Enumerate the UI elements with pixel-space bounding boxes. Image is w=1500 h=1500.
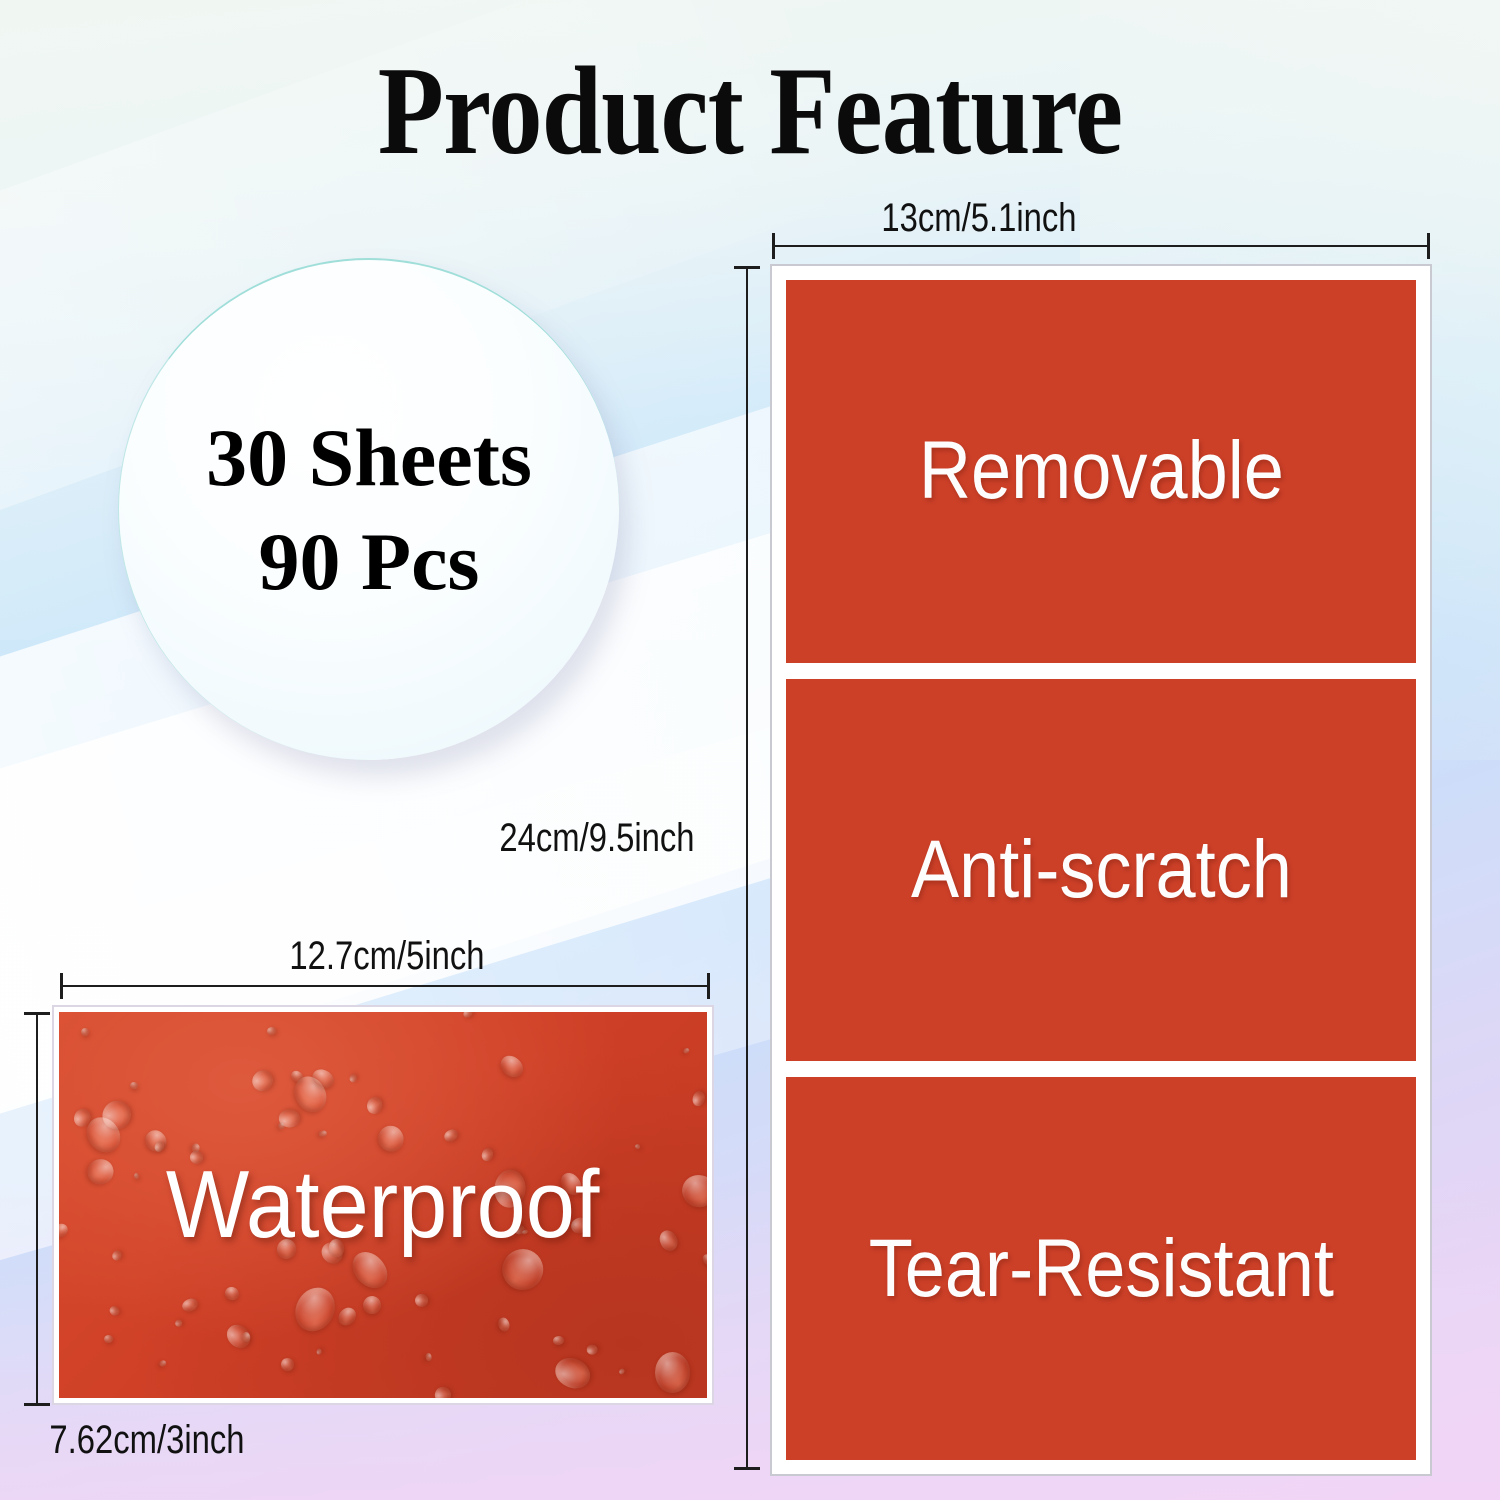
water-droplet-icon <box>683 1047 690 1054</box>
water-droplet-icon <box>359 1293 383 1317</box>
water-droplet-icon <box>462 1012 475 1020</box>
water-droplet-icon <box>159 1359 167 1367</box>
quantity-badge: 30 Sheets 90 Pcs <box>118 258 619 760</box>
water-droplet-icon <box>691 1090 705 1107</box>
water-droplet-icon <box>634 1143 641 1149</box>
water-droplet-icon <box>266 1026 277 1036</box>
feature-panel-label: Tear-Resistant <box>868 1222 1333 1316</box>
water-droplet-icon <box>349 1074 356 1082</box>
water-droplet-icon <box>679 1172 707 1210</box>
water-droplet-icon <box>130 1081 139 1089</box>
water-droplet-icon <box>249 1066 277 1094</box>
water-droplet-icon <box>134 1173 140 1180</box>
feature-panel-anti-scratch[interactable]: Anti-scratch <box>786 679 1416 1062</box>
badge-pcs-line: 90 Pcs <box>259 521 480 603</box>
water-droplet-icon <box>223 1285 241 1302</box>
feature-panel-label: Removable <box>918 424 1283 518</box>
water-droplet-icon <box>442 1127 460 1144</box>
water-droplet-icon <box>656 1228 680 1254</box>
water-droplet-icon <box>334 1304 359 1329</box>
right-card-width-dimension-line <box>772 245 1430 247</box>
waterproof-height-dimension-line <box>36 1012 38 1406</box>
page-title: Product Feature <box>105 46 1395 178</box>
water-droplet-icon <box>497 1317 511 1334</box>
water-droplet-icon <box>111 1250 123 1262</box>
right-card-height-label: 24cm/9.5inch <box>499 816 694 861</box>
water-droplet-icon <box>104 1335 114 1344</box>
feature-panel-removable[interactable]: Removable <box>786 280 1416 663</box>
water-droplet-icon <box>288 1281 343 1339</box>
waterproof-label: Waterproof <box>166 1150 600 1260</box>
feature-panel-label: Anti-scratch <box>911 823 1292 917</box>
waterproof-width-dimension-line <box>60 985 710 987</box>
water-droplet-icon <box>180 1297 199 1315</box>
water-droplet-icon <box>655 1352 691 1393</box>
right-card-height-dimension-line <box>746 266 748 1470</box>
sheet-size-card: Removable Anti-scratch Tear-Resistant <box>770 264 1432 1476</box>
water-droplet-icon <box>87 1158 115 1186</box>
waterproof-panel[interactable]: Waterproof <box>59 1012 707 1398</box>
water-droplet-icon <box>412 1292 430 1310</box>
water-droplet-icon <box>59 1221 71 1240</box>
infographic-canvas: Product Feature 30 Sheets 90 Pcs 13cm/5.… <box>0 0 1500 1500</box>
water-droplet-icon <box>497 1051 528 1081</box>
badge-sheets-line: 30 Sheets <box>206 417 532 499</box>
water-droplet-icon <box>618 1368 625 1376</box>
water-droplet-icon <box>81 1028 89 1036</box>
water-droplet-icon <box>319 1130 327 1137</box>
water-droplet-icon <box>280 1357 295 1373</box>
right-card-width-label: 13cm/5.1inch <box>881 196 1076 241</box>
water-droplet-icon <box>586 1344 598 1355</box>
waterproof-sticker-card: Waterproof <box>52 1005 714 1405</box>
water-droplet-icon <box>107 1305 120 1318</box>
water-droplet-icon <box>425 1352 432 1361</box>
water-droplet-icon <box>365 1096 383 1116</box>
water-droplet-icon <box>551 1352 596 1394</box>
water-droplet-icon <box>316 1349 322 1356</box>
waterproof-height-label: 7.62cm/3inch <box>49 1418 244 1463</box>
water-droplet-icon <box>553 1335 565 1346</box>
water-droplet-icon <box>174 1319 182 1328</box>
water-droplet-icon <box>700 1252 707 1268</box>
feature-panel-tear-resistant[interactable]: Tear-Resistant <box>786 1077 1416 1460</box>
waterproof-width-label: 12.7cm/5inch <box>289 934 484 979</box>
water-droplet-icon <box>432 1384 453 1398</box>
